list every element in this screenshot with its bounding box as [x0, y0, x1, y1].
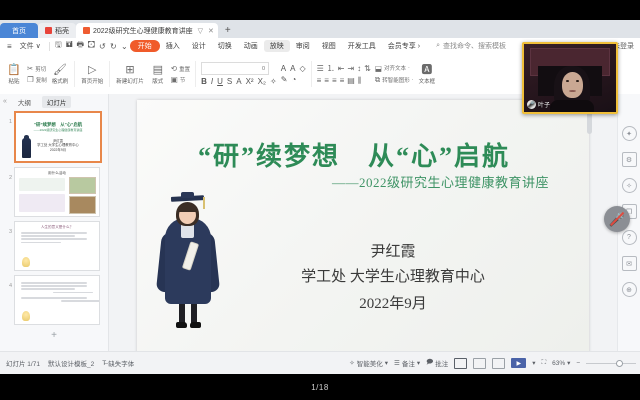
undo-icon[interactable]: ↺	[97, 42, 108, 51]
graduation-cap-top	[181, 192, 194, 198]
font-size-step-group: A A ◇ ✎ ◔	[279, 54, 308, 94]
chevron-down-icon: ▾	[567, 359, 570, 367]
microphone-icon: 🎤	[527, 100, 536, 109]
smart-beautify-button[interactable]: ✧ 智能美化 ▾	[349, 358, 388, 368]
settings-sliders-icon[interactable]: ⚙	[622, 152, 637, 167]
layout-label: 版式	[152, 77, 163, 85]
window-tab-strip: 首页 稻壳 2022级研究生心理健康教育讲座 ▽ ✕ +	[0, 20, 640, 38]
slide-number: 1	[2, 111, 14, 125]
bullet-list-button[interactable]: ☰	[317, 64, 324, 73]
status-bar: 幻灯片 1/71 默认设计模板_2 T̶ 缺失字体 ✧ 智能美化 ▾ ☰ 备注 …	[0, 351, 640, 374]
view-normal-button[interactable]	[454, 358, 467, 369]
hair-fringe	[178, 204, 197, 212]
customize-icon[interactable]: ⌄	[119, 42, 130, 51]
list-item[interactable]: 4	[0, 275, 108, 325]
page-indicator: 1/18	[0, 374, 640, 400]
start-slideshow-button[interactable]: ▶	[511, 358, 526, 368]
slide-organization[interactable]: 学工处 大学生心理教育中心	[217, 265, 569, 286]
cut-icon: ✂	[27, 64, 33, 73]
tab-document-label: 2022级研究生心理健康教育讲座	[93, 26, 193, 36]
slideshow-dropdown-icon[interactable]: ▾	[532, 359, 535, 367]
feedback-icon[interactable]: ✉	[622, 256, 637, 271]
ribbon-tab-view[interactable]: 视图	[316, 41, 342, 51]
thumb-image	[69, 196, 96, 214]
close-icon[interactable]: ✕	[208, 27, 214, 35]
copy-icon: ❐	[27, 75, 34, 84]
slide-number: 4	[2, 275, 14, 289]
format-painter-icon: 🖌	[53, 64, 67, 76]
ribbon-tab-member[interactable]: 会员专享 ›	[382, 41, 426, 51]
tab-docer[interactable]: 稻壳	[38, 23, 76, 38]
participant-eye-right	[576, 80, 579, 82]
shoe-right	[190, 322, 201, 328]
underline-button[interactable]: U	[217, 77, 223, 86]
slide-navigator-panel: « 大纲 幻灯片 1 “研”续梦想 从“心”启航 ——2022级研究生心理健康教…	[0, 94, 109, 352]
from-start-label: 首页开始	[81, 77, 103, 85]
thumb-heading: 用什么活动	[15, 171, 99, 176]
wps-presentation-window: 首页 稻壳 2022级研究生心理健康教育讲座 ▽ ✕ + ≡ 文件 ∨ 🖫	[0, 20, 640, 374]
slide-editing-stage[interactable]: “研”续梦想 从“心”启航 ——2022级研究生心理健康教育讲座 尹红霞 学工处…	[109, 94, 617, 352]
columns-button[interactable]: ⫼	[358, 76, 362, 86]
divider	[49, 42, 50, 51]
slide-thumbnail-4[interactable]	[14, 275, 100, 325]
font-size-value: 0	[262, 66, 265, 72]
chevron-down-icon: ▾	[417, 359, 420, 367]
text-effects-button[interactable]: ✧	[270, 77, 277, 86]
chevron-down-icon: ▾	[385, 359, 388, 367]
slide-title[interactable]: “研”续梦想 从“心”启航	[137, 136, 571, 173]
section-icon: ▣	[171, 75, 178, 84]
text-direction-button[interactable]: ⇅	[364, 64, 371, 73]
new-slide-label: 新建幻灯片	[116, 77, 144, 85]
cap-tassel	[203, 197, 205, 209]
participant-body	[550, 100, 594, 114]
align-center-button[interactable]: ≡	[324, 76, 329, 85]
highlight-row: ✎ ◔	[281, 75, 306, 84]
participant-name-tag: 🎤 叶子	[527, 100, 550, 109]
slide-thumbnail-2[interactable]: 用什么活动	[14, 167, 100, 217]
slide-number: 2	[2, 167, 14, 181]
hamburger-icon[interactable]: ≡	[4, 42, 15, 51]
slide-date[interactable]: 2022年9月	[217, 292, 569, 313]
font-family-input[interactable]: 0	[201, 62, 269, 75]
magic-icon: ✧	[349, 359, 354, 367]
panel-header: « 大纲 幻灯片	[0, 94, 108, 109]
layout-button[interactable]: ▤ 版式	[147, 64, 169, 85]
ai-star-icon[interactable]: ✧	[622, 178, 637, 193]
new-slide-icon: ⊞	[125, 64, 134, 76]
participant-mouth	[569, 90, 576, 92]
subscript-button[interactable]: X₂	[258, 77, 266, 86]
current-slide[interactable]: “研”续梦想 从“心”启航 ——2022级研究生心理健康教育讲座 尹红霞 学工处…	[137, 100, 589, 354]
print-preview-icon[interactable]: 🖸	[86, 39, 97, 53]
ribbon-tab-transition[interactable]: 切换	[212, 41, 238, 51]
textbox-button[interactable]: 🅰 文本框	[416, 64, 439, 85]
webcam-video-overlay[interactable]: 🎤 叶子	[522, 42, 618, 114]
ribbon-tab-start[interactable]: 开始	[130, 40, 160, 52]
slide-counter: 幻灯片 1/71	[6, 358, 40, 368]
thumb-image	[69, 177, 96, 194]
graduate-icon	[22, 138, 31, 158]
template-name[interactable]: 默认设计模板_2	[48, 358, 94, 368]
new-tab-button[interactable]: +	[218, 23, 238, 38]
view-slide-sorter-button[interactable]	[473, 358, 486, 369]
font-format-row: B I U S A X² X₂ ✧	[201, 77, 277, 86]
paste-label: 粘贴	[8, 77, 19, 85]
smart-beautify-icon[interactable]: ✦	[622, 126, 637, 141]
list-item[interactable]: 1 “研”续梦想 从“心”启航 ——2022级研究生心理健康教育讲座 尹红霞学工…	[0, 111, 108, 163]
align-left-button[interactable]: ≡	[317, 76, 322, 85]
participant-eye-left	[566, 80, 569, 82]
comment-button[interactable]: 🗩 批注	[426, 358, 448, 369]
justify-button[interactable]: ≡	[340, 76, 345, 85]
reset-icon: ⟲	[171, 64, 177, 73]
save-icon[interactable]: 🖫	[53, 39, 64, 53]
work-area: « 大纲 幻灯片 1 “研”续梦想 从“心”启航 ——2022级研究生心理健康教…	[0, 94, 640, 352]
graduate-illustration[interactable]	[159, 188, 217, 336]
chevron-down-icon: ∨	[36, 42, 41, 50]
align-right-button[interactable]: ≡	[332, 76, 337, 85]
italic-button[interactable]: I	[211, 77, 213, 86]
file-menu[interactable]: 文件 ∨	[15, 41, 46, 51]
cut-button[interactable]: ✂剪切	[27, 64, 47, 73]
list-item[interactable]: 3 人生的意义是什么？	[0, 221, 108, 271]
notes-button[interactable]: ☰ 备注 ▾	[394, 358, 420, 368]
slide-presenter[interactable]: 尹红霞	[217, 240, 569, 265]
more-tools-icon[interactable]: ⊕	[622, 282, 637, 297]
font-icon: T̶	[102, 360, 106, 367]
print-icon[interactable]: 🖶	[75, 39, 86, 53]
fit-to-window-button[interactable]: ⛶	[542, 359, 547, 367]
textbox-label: 文本框	[419, 77, 436, 85]
ribbon-tab-animation[interactable]: 动画	[238, 41, 264, 51]
reset-button[interactable]: ⟲重置	[171, 64, 190, 73]
divider	[74, 61, 75, 87]
increase-indent-button[interactable]: ⇥	[347, 64, 354, 73]
divider	[109, 61, 110, 87]
tab-home[interactable]: 首页	[0, 23, 38, 38]
format-painter-label: 格式刷	[52, 77, 69, 85]
paragraph-group: ☰ ⒈ ⇤ ⇥ ↕ ⇅ ≡ ≡ ≡ ≡ ▤ ⫼	[315, 54, 373, 94]
slide-subtitle[interactable]: ——2022级研究生心理健康教育讲座	[332, 172, 549, 191]
microphone-mute-button[interactable]: 🎤	[604, 206, 630, 232]
zoom-level[interactable]: 63% ▾	[552, 359, 570, 367]
panel-tab-slides[interactable]: 幻灯片	[42, 96, 72, 108]
redo-icon[interactable]: ↻	[108, 42, 119, 51]
ribbon-tab-slideshow[interactable]: 放映	[264, 40, 290, 52]
numbered-list-button[interactable]: ⒈	[327, 63, 335, 74]
divider	[195, 61, 196, 87]
status-right-group: ✧ 智能美化 ▾ ☰ 备注 ▾ 🗩 批注 ▶ ▾	[349, 358, 640, 369]
textbox-icon: 🅰	[421, 64, 432, 76]
file-menu-label: 文件	[20, 41, 34, 51]
decrease-indent-button[interactable]: ⇤	[338, 64, 345, 73]
save-as-icon[interactable]: 🖬	[64, 39, 75, 53]
slide-number: 3	[2, 221, 14, 235]
align-text-icon: ⬓	[375, 64, 382, 73]
add-slide-button[interactable]: +	[12, 329, 96, 341]
font-grow-row: A A ◇	[281, 64, 306, 73]
search-icon: ⌕	[436, 42, 440, 50]
font-group: 0 B I U S A X² X₂ ✧	[199, 54, 279, 94]
grow-font-button[interactable]: A	[281, 64, 286, 73]
smartart-icon: ⧉	[375, 75, 380, 85]
list-item[interactable]: 2 用什么活动	[0, 167, 108, 217]
ribbon-tab-design[interactable]: 设计	[186, 41, 212, 51]
start-from-beginning-button[interactable]: ▷ 首页开始	[78, 64, 106, 85]
participant-face	[562, 72, 583, 98]
align-row: ≡ ≡ ≡ ≡ ▤ ⫼	[317, 76, 371, 86]
new-slide-button[interactable]: ⊞ 新建幻灯片	[113, 64, 147, 85]
panel-tab-outline[interactable]: 大纲	[13, 96, 36, 108]
thumbnail-list[interactable]: 1 “研”续梦想 从“心”启航 ——2022级研究生心理健康教育讲座 尹红霞学工…	[0, 109, 108, 352]
divider	[311, 61, 312, 87]
shell-icon	[45, 27, 52, 34]
thumb-heading: 人生的意义是什么？	[15, 225, 99, 230]
search-box[interactable]: ⌕ 查找命令、搜索模板	[436, 41, 506, 51]
ribbon-tab-review[interactable]: 审阅	[290, 41, 316, 51]
format-painter-button[interactable]: 🖌 格式刷	[49, 64, 72, 85]
section-reset-group: ⟲重置 ▣节	[169, 54, 192, 94]
layout-icon: ▤	[153, 64, 163, 76]
thumb-block	[19, 178, 65, 191]
ribbon-tab-insert[interactable]: 插入	[160, 41, 186, 51]
zoom-out-button[interactable]: −	[576, 360, 580, 367]
align-text-group: ⬓对齐文本 · ⧉转智能图形 ·	[373, 54, 416, 94]
tab-document[interactable]: 2022级研究生心理健康教育讲座 ▽ ✕	[76, 23, 218, 38]
help-icon[interactable]: ?	[622, 230, 637, 245]
tab-home-label: 首页	[12, 26, 26, 36]
text-highlight-button[interactable]: ✎	[281, 75, 288, 84]
text-shading-button[interactable]: ◔	[291, 75, 296, 84]
font-color-button[interactable]: A	[236, 77, 241, 86]
section-button[interactable]: ▣节	[171, 75, 190, 84]
paste-button[interactable]: 📋 粘贴	[3, 64, 25, 85]
lightbulb-icon	[22, 311, 30, 321]
clear-format-button[interactable]: ◇	[299, 64, 305, 73]
fit-to-window-icon: ⛶	[542, 359, 547, 367]
search-placeholder: 查找命令、搜索模板	[443, 41, 506, 51]
slide-thumbnail-3[interactable]: 人生的意义是什么？	[14, 221, 100, 271]
slide-thumbnail-1[interactable]: “研”续梦想 从“心”启航 ——2022级研究生心理健康教育讲座 尹红霞学工处 …	[14, 111, 102, 163]
tab-dropdown-icon[interactable]: ▽	[198, 27, 203, 35]
ppt-icon	[83, 27, 90, 34]
shoe-left	[176, 322, 187, 328]
line-spacing-button[interactable]: ↕	[357, 64, 361, 73]
align-text-button[interactable]: ⬓对齐文本 ·	[375, 64, 414, 73]
bold-button[interactable]: B	[201, 77, 207, 86]
ribbon-tab-developer[interactable]: 开发工具	[342, 41, 382, 51]
letterbox-top	[0, 0, 640, 20]
participant-name: 叶子	[538, 100, 550, 109]
tab-docer-label: 稻壳	[55, 26, 69, 36]
chevron-left-icon[interactable]: «	[3, 98, 7, 105]
list-row: ☰ ⒈ ⇤ ⇥ ↕ ⇅	[317, 63, 371, 74]
screen-recording-frame: 首页 稻壳 2022级研究生心理健康教育讲座 ▽ ✕ + ≡ 文件 ∨ 🖫	[0, 0, 640, 400]
shrink-font-button[interactable]: A	[290, 64, 295, 73]
convert-smartart-button[interactable]: ⧉转智能图形 ·	[375, 75, 414, 85]
notes-icon: ☰	[394, 359, 400, 367]
font-missing-indicator[interactable]: T̶ 缺失字体	[102, 358, 134, 368]
thumb-subtitle: ——2022级研究生心理健康教育讲座	[16, 128, 100, 132]
thumb-block	[19, 194, 65, 212]
zoom-slider-handle[interactable]	[616, 360, 623, 367]
superscript-button[interactable]: X²	[246, 77, 254, 86]
lightbulb-icon	[22, 257, 30, 267]
cut-copy-group: ✂剪切 ❐复制	[25, 54, 49, 94]
thumb-bullets	[21, 232, 93, 245]
thumb-bullets	[21, 282, 93, 304]
distribute-button[interactable]: ▤	[347, 76, 355, 85]
zoom-slider[interactable]	[586, 363, 636, 364]
comment-icon: 🗩	[426, 358, 433, 369]
view-reading-button[interactable]	[492, 358, 505, 369]
copy-button[interactable]: ❐复制	[27, 75, 47, 84]
from-start-icon: ▷	[88, 64, 96, 76]
paste-icon: 📋	[7, 64, 21, 76]
strikethrough-button[interactable]: S	[227, 77, 232, 86]
